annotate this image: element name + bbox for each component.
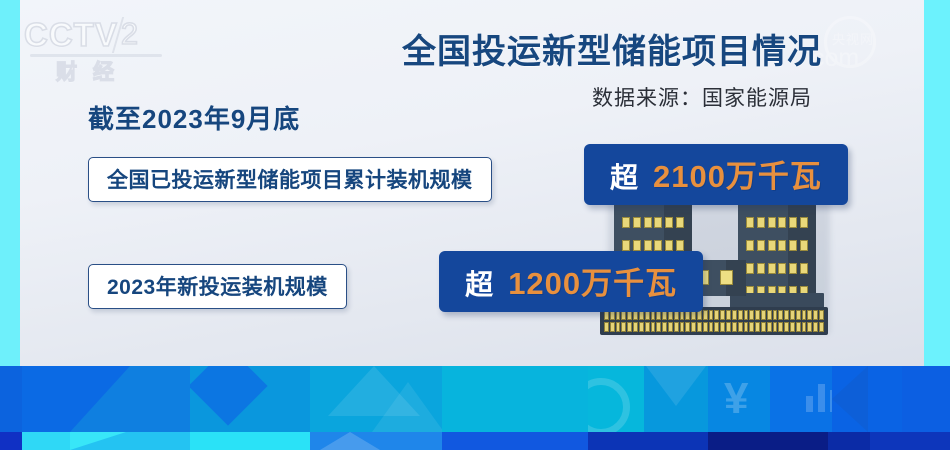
base-window <box>749 310 754 320</box>
base-window <box>691 322 696 332</box>
base-window <box>656 322 661 332</box>
tower-window <box>789 240 797 251</box>
stat-label: 全国已投运新型储能项目累计装机规模 <box>88 157 492 202</box>
tower-window-row <box>746 217 808 228</box>
tower-window <box>622 240 630 251</box>
tower-window <box>778 240 786 251</box>
band-triangle <box>320 432 380 450</box>
base-window <box>749 322 754 332</box>
tower-window-row <box>622 240 684 251</box>
base-window <box>778 322 783 332</box>
base-window <box>685 322 690 332</box>
base-window <box>819 322 824 332</box>
base-window <box>744 310 749 320</box>
band-triangle <box>372 382 442 432</box>
tower-window <box>778 263 786 274</box>
band-cell <box>442 432 588 450</box>
base-window <box>755 310 760 320</box>
band-cell <box>0 366 22 432</box>
cctv-logo-text: CCTV <box>24 16 118 53</box>
base-window <box>784 310 789 320</box>
base-window <box>651 322 656 332</box>
base-window <box>674 322 679 332</box>
tower-window <box>746 240 754 251</box>
base-window <box>773 322 778 332</box>
base-window <box>767 322 772 332</box>
base-window <box>802 322 807 332</box>
cctv-channel-name: 财经 <box>56 56 130 86</box>
tower-window <box>757 263 765 274</box>
base-window <box>726 322 731 332</box>
band-cell <box>870 432 950 450</box>
tower-window <box>665 217 673 228</box>
band-cell <box>832 366 902 432</box>
base-window <box>633 322 638 332</box>
base-window <box>709 310 714 320</box>
band-cell <box>22 366 70 432</box>
cctv-logo: CCTV2 财经 <box>24 18 174 80</box>
base-window <box>761 322 766 332</box>
band-bottom-row <box>0 432 950 450</box>
tower-window <box>800 217 808 228</box>
yen-icon: ¥ <box>724 374 748 424</box>
band-triangle <box>70 432 126 450</box>
base-window <box>773 310 778 320</box>
stat-value-band: 超1200万千瓦 <box>439 251 703 312</box>
base-window <box>668 322 673 332</box>
base-window <box>662 322 667 332</box>
base-window <box>802 310 807 320</box>
right-accent-strip <box>924 0 950 366</box>
tower-window <box>789 217 797 228</box>
base-window <box>807 310 812 320</box>
band-cell <box>644 366 708 432</box>
base-window <box>697 322 702 332</box>
tower-window <box>757 240 765 251</box>
band-triangle <box>832 366 868 432</box>
base-window <box>726 310 731 320</box>
band-cell <box>190 432 310 450</box>
tower-window <box>633 240 641 251</box>
stat-card: 2023年新投运装机规模 超1200万千瓦 <box>88 259 703 312</box>
bridge-window <box>720 270 733 285</box>
watermark-label: 央视网 <box>832 29 874 48</box>
band-cell <box>310 366 442 432</box>
base-window <box>627 322 632 332</box>
tower-window <box>622 217 630 228</box>
base-window <box>732 310 737 320</box>
stat-value: 1200万千瓦 <box>508 266 677 301</box>
band-cell <box>708 432 828 450</box>
tower-window <box>654 240 662 251</box>
watermark-ring-icon <box>824 16 876 68</box>
base-window <box>703 310 708 320</box>
base-window <box>703 322 708 332</box>
data-source-label: 数据来源：国家能源局 <box>592 82 812 112</box>
band-cell <box>190 366 310 432</box>
base-window <box>732 322 737 332</box>
band-triangle <box>70 366 130 432</box>
ring-icon <box>588 378 630 432</box>
band-cell: ¥ <box>708 366 770 432</box>
base-window <box>714 310 719 320</box>
tower-window <box>768 263 776 274</box>
stat-qualifier: 超 <box>610 162 639 193</box>
base-window <box>807 322 812 332</box>
band-cell <box>770 366 832 432</box>
band-main-row: ¥ <box>0 366 950 432</box>
stat-qualifier: 超 <box>465 269 494 300</box>
tower-window <box>768 217 776 228</box>
band-cell <box>588 366 644 432</box>
base-window <box>796 322 801 332</box>
base-window <box>616 322 621 332</box>
tower-window-row <box>746 240 808 251</box>
band-cell <box>22 432 70 450</box>
band-cell <box>70 366 190 432</box>
base-window <box>784 322 789 332</box>
band-triangle <box>646 366 706 406</box>
band-cell <box>310 432 442 450</box>
base-window <box>680 322 685 332</box>
base-window <box>738 310 743 320</box>
bottom-graphic-band: ¥ <box>0 366 950 450</box>
base-window <box>796 310 801 320</box>
page-title: 全国投运新型储能项目情况 <box>402 24 822 73</box>
base-window <box>755 322 760 332</box>
band-cell <box>588 432 708 450</box>
tower-window <box>789 263 797 274</box>
tower-window <box>654 217 662 228</box>
tower-window <box>778 217 786 228</box>
base-window <box>813 322 818 332</box>
stat-value-band: 超2100万千瓦 <box>584 144 848 205</box>
band-cell <box>70 432 190 450</box>
tower-window <box>644 240 652 251</box>
base-window <box>639 322 644 332</box>
base-window-row <box>604 322 824 332</box>
tower-window <box>665 240 673 251</box>
base-window <box>714 322 719 332</box>
tower-window <box>746 217 754 228</box>
band-cell <box>0 432 22 450</box>
base-window <box>790 310 795 320</box>
tower-window-row <box>622 217 684 228</box>
tower-window <box>800 263 808 274</box>
band-cell <box>442 366 588 432</box>
band-diamond <box>190 366 268 426</box>
base-window <box>790 322 795 332</box>
bar-chart-icon <box>806 384 832 412</box>
base-window <box>744 322 749 332</box>
base-window <box>778 310 783 320</box>
band-cell <box>902 366 950 432</box>
stat-card: 全国已投运新型储能项目累计装机规模 超2100万千瓦 <box>88 152 848 205</box>
tower-window <box>800 240 808 251</box>
tower-window <box>676 240 684 251</box>
base-window <box>604 322 609 332</box>
tower-window <box>746 263 754 274</box>
base-window <box>709 322 714 332</box>
base-window <box>720 310 725 320</box>
content-panel: CCTV2 财经 央视网 com 全国投运新型储能项目情况 数据来源：国家能源局… <box>0 0 950 366</box>
tower-window <box>644 217 652 228</box>
base-window <box>767 310 772 320</box>
base-window <box>621 322 626 332</box>
base-window <box>813 310 818 320</box>
base-window <box>738 322 743 332</box>
cctv-channel-number: 2 <box>121 18 139 49</box>
left-accent-strip <box>0 0 20 366</box>
stat-value: 2100万千瓦 <box>653 159 822 194</box>
tower-window-row <box>746 263 808 274</box>
base-window <box>761 310 766 320</box>
tower-window <box>757 217 765 228</box>
stat-label: 2023年新投运装机规模 <box>88 264 347 309</box>
broadcast-screen: CCTV2 财经 央视网 com 全国投运新型储能项目情况 数据来源：国家能源局… <box>0 0 950 450</box>
as-of-date-label: 截至2023年9月底 <box>88 99 300 136</box>
base-window <box>819 310 824 320</box>
base-window <box>720 322 725 332</box>
tower-window <box>676 217 684 228</box>
base-window <box>645 322 650 332</box>
base-window <box>610 322 615 332</box>
tower-window <box>768 240 776 251</box>
band-cell <box>828 432 870 450</box>
tower-window <box>633 217 641 228</box>
